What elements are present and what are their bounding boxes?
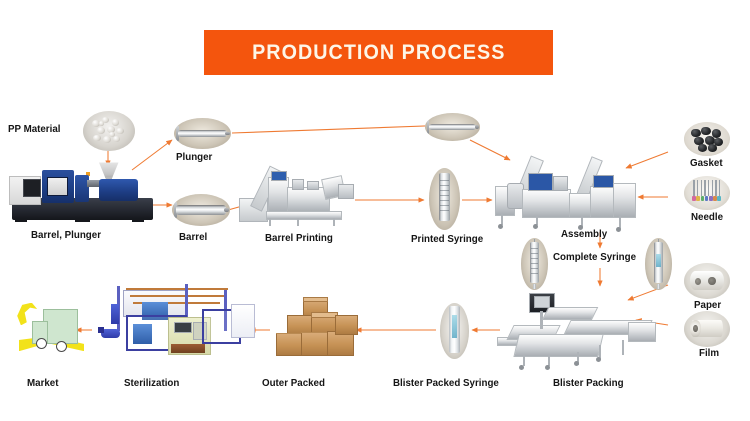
gasket-thumb xyxy=(684,122,730,156)
assembly-machine xyxy=(492,150,640,232)
blister-packed-syringe-thumb xyxy=(440,303,469,359)
barrel-thumb xyxy=(172,194,230,226)
label-barrel: Barrel xyxy=(179,231,207,243)
production-process-diagram: PRODUCTION PROCESS xyxy=(0,0,750,421)
paper-thumb xyxy=(684,263,730,299)
film-thumb xyxy=(684,311,730,347)
label-sterilization: Sterilization xyxy=(124,377,179,389)
outer-packed-cartons xyxy=(272,296,368,360)
label-film: Film xyxy=(699,347,719,359)
page-title: PRODUCTION PROCESS xyxy=(252,41,505,65)
barrel-printing-machine xyxy=(237,155,357,227)
label-complete-syringe: Complete Syringe xyxy=(553,251,636,263)
label-printed-syringe: Printed Syringe xyxy=(411,233,483,245)
label-paper: Paper xyxy=(694,299,721,311)
label-plunger: Plunger xyxy=(176,151,212,163)
market-delivery xyxy=(14,292,94,368)
title-banner: PRODUCTION PROCESS xyxy=(204,30,553,75)
plunger-feed-thumb xyxy=(425,113,480,141)
complete-syringe-thumb-left xyxy=(521,238,548,290)
label-pp-material: PP Material xyxy=(8,123,60,135)
label-blister-packed-syringe: Blister Packed Syringe xyxy=(393,377,499,389)
label-blister-packing: Blister Packing xyxy=(553,377,624,389)
complete-syringe-thumb-right xyxy=(645,238,672,290)
printed-syringe-thumb xyxy=(429,168,460,230)
pp-material-thumb xyxy=(83,111,135,151)
injection-molding-machine xyxy=(6,160,156,222)
label-barrel-printing: Barrel Printing xyxy=(265,232,333,244)
label-outer-packed: Outer Packed xyxy=(262,377,325,389)
label-assembly: Assembly xyxy=(561,228,607,240)
needle-thumb xyxy=(684,176,730,210)
label-market: Market xyxy=(27,377,58,389)
sterilization-machine xyxy=(98,277,256,367)
label-barrel-plunger: Barrel, Plunger xyxy=(31,229,101,241)
label-gasket: Gasket xyxy=(690,157,723,169)
blister-packing-machine xyxy=(497,286,657,368)
label-needle: Needle xyxy=(691,211,723,223)
plunger-thumb xyxy=(174,118,231,149)
